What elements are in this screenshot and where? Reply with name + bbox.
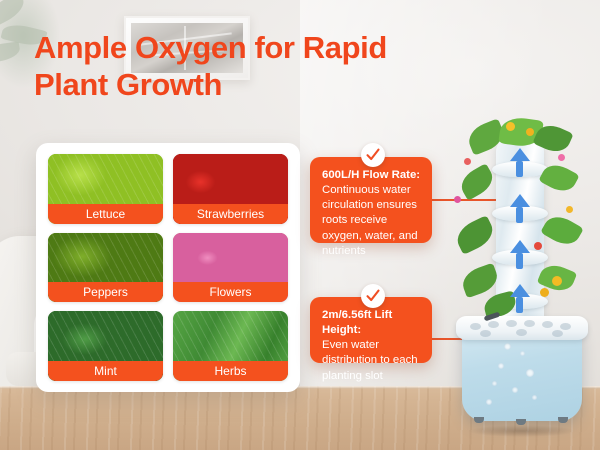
plant-tile-lettuce: Lettuce	[48, 154, 163, 224]
planting-slot	[506, 320, 517, 327]
plant-tile-label: Herbs	[173, 361, 288, 381]
flower-blossom	[552, 276, 562, 286]
callout-text: 600L/H Flow Rate:Continuous water circul…	[322, 168, 422, 259]
water-bubble	[486, 399, 492, 405]
plant-tile-strawberries: Strawberries	[173, 154, 288, 224]
water-bubble	[504, 343, 511, 350]
checkmark-icon	[365, 288, 381, 304]
planting-slot	[542, 321, 553, 328]
planting-slot	[488, 321, 499, 328]
plant-types-grid: Lettuce Strawberries Peppers Flowers Min…	[48, 154, 288, 381]
flower-blossom	[558, 154, 565, 161]
water-bubble	[520, 351, 525, 356]
reservoir-foot	[474, 417, 484, 423]
plant-types-card: Lettuce Strawberries Peppers Flowers Min…	[36, 143, 300, 392]
plant-tile-label: Flowers	[173, 282, 288, 302]
plant-tile-label: Strawberries	[173, 204, 288, 224]
plant-foliage	[459, 263, 501, 299]
plant-tile-label: Mint	[48, 361, 163, 381]
water-bubble	[526, 369, 534, 377]
plant-leaf	[0, 41, 21, 63]
water-bubble	[512, 387, 518, 393]
plant-foliage	[540, 211, 584, 251]
plant-tile-flowers: Flowers	[173, 233, 288, 303]
callout-title: 600L/H Flow Rate:	[322, 168, 422, 183]
page-title: Ample Oxygen for Rapid Plant Growth	[34, 30, 454, 103]
planting-slot	[470, 323, 481, 330]
flower-blossom	[534, 242, 542, 250]
reservoir-foot	[516, 419, 526, 425]
water-bubble	[498, 363, 504, 369]
reservoir-foot	[558, 417, 568, 423]
reservoir-lid	[456, 316, 588, 340]
flower-blossom	[464, 158, 471, 165]
marketing-image: Ample Oxygen for Rapid Plant Growth Lett…	[0, 0, 600, 450]
planting-slot	[560, 323, 571, 330]
flower-blossom	[540, 288, 549, 297]
plant-tile-mint: Mint	[48, 311, 163, 381]
water-bubble	[532, 395, 537, 400]
plant-foliage	[452, 215, 498, 255]
hydroponic-tower-garden	[440, 118, 600, 432]
checkmark-badge	[361, 284, 385, 308]
flower-blossom	[506, 122, 515, 131]
plant-tile-label: Peppers	[48, 282, 163, 302]
plant-tile-peppers: Peppers	[48, 233, 163, 303]
callout-title: 2m/6.56ft Lift Height:	[322, 308, 422, 338]
callout-body: Continuous water circulation ensures roo…	[322, 184, 418, 257]
callout-body: Even water distribution to each planting…	[322, 339, 418, 381]
planting-slot	[552, 330, 563, 337]
plant-tile-herbs: Herbs	[173, 311, 288, 381]
plant-tile-label: Lettuce	[48, 204, 163, 224]
flower-blossom	[454, 196, 461, 203]
planting-slot	[480, 330, 491, 337]
plant-leaf	[0, 0, 28, 28]
callout-flow-rate: 600L/H Flow Rate:Continuous water circul…	[310, 157, 432, 243]
checkmark-icon	[365, 147, 381, 163]
checkmark-badge	[361, 143, 385, 167]
flower-blossom	[526, 128, 534, 136]
callout-text: 2m/6.56ft Lift Height:Even water distrib…	[322, 308, 422, 384]
planting-slot	[524, 320, 535, 327]
planting-slot	[516, 329, 527, 336]
water-bubble	[492, 381, 497, 386]
flower-blossom	[566, 206, 573, 213]
